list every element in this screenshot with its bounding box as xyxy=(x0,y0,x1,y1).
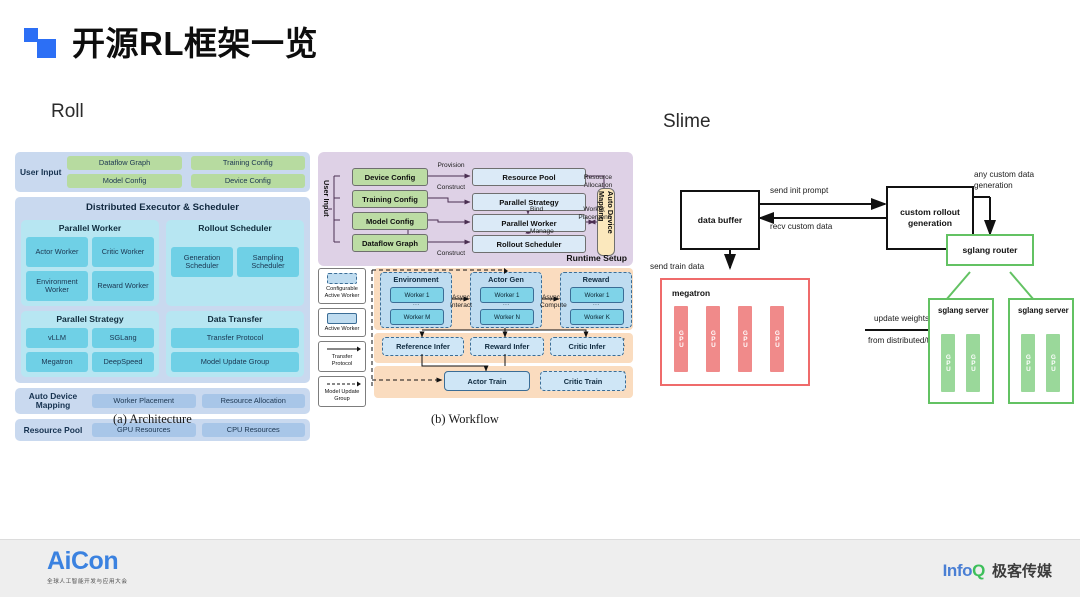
roll-architecture-panel: User Input Dataflow Graph Training Confi… xyxy=(15,152,310,403)
page-title: 开源RL框架一览 xyxy=(72,27,318,60)
gen-worker-last: Worker M xyxy=(390,309,444,325)
workflow-edge-provision: Provision xyxy=(428,162,474,170)
arch-chip-resource-allocation: Resource Allocation xyxy=(202,394,306,408)
aicon-ai-text: Ai xyxy=(47,547,71,575)
arch-item-sampling-scheduler: Sampling Scheduler xyxy=(237,247,299,277)
infoq-q-text: Q xyxy=(972,561,985,580)
arch-chip-dataflow-graph: Dataflow Graph xyxy=(67,156,181,170)
arch-item-sglang: SGLang xyxy=(92,328,154,348)
workflow-runtime-setup-label: Runtime Setup xyxy=(566,253,627,263)
arch-group-data-transfer: Data Transfer Transfer Protocol Model Up… xyxy=(166,311,304,377)
legend-label: Active Worker xyxy=(325,326,360,332)
arch-item-reward-worker: Reward Worker xyxy=(92,271,154,301)
slime-edge-update-weights: update weights xyxy=(874,314,929,325)
workflow-runtime-setup: User Input xyxy=(318,152,633,266)
workflow-node-training-config: Training Config xyxy=(352,190,428,208)
arch-chip-training-config: Training Config xyxy=(191,156,305,170)
arch-item-model-update-group: Model Update Group xyxy=(171,352,299,372)
workflow-label-worker-placement: Worker Placement xyxy=(576,206,612,221)
arch-item-deepspeed: DeepSpeed xyxy=(92,352,154,372)
arch-group-title: Parallel Strategy xyxy=(26,314,154,324)
workflow-node-rollout-scheduler: Rollout Scheduler xyxy=(472,235,586,253)
megatron-gpu-1: GPU xyxy=(706,306,720,372)
arch-user-input-label: User Input xyxy=(20,167,61,177)
sglang-server-1-gpu-0: GPU xyxy=(941,334,955,392)
gen-group-title: Environment xyxy=(381,273,451,284)
roll-workflow-panel: User Input xyxy=(318,152,633,407)
gen-worker-ellipsis: ··· xyxy=(390,301,442,308)
arch-item-transfer-protocol: Transfer Protocol xyxy=(171,328,299,348)
arch-band-user-input: User Input Dataflow Graph Training Confi… xyxy=(15,152,310,192)
megatron-gpu-0: GPU xyxy=(674,306,688,372)
legend-label: Configurable Active Worker xyxy=(325,286,360,299)
arch-chip-model-config: Model Config xyxy=(67,174,181,188)
slime-edge-send-init-prompt: send init prompt xyxy=(770,186,828,197)
arch-group-parallel-worker: Parallel Worker Actor Worker Critic Work… xyxy=(21,220,159,306)
train-box-critic-train: Critic Train xyxy=(540,371,626,391)
gpu-label: GPU xyxy=(710,330,716,348)
workflow-user-input-label: User Input xyxy=(322,180,331,217)
workflow-edge-construct-2: Construct xyxy=(428,250,474,258)
gen-worker-last: Worker K xyxy=(570,309,624,325)
arch-group-title: Rollout Scheduler xyxy=(171,223,299,233)
train-box-actor-train: Actor Train xyxy=(444,371,530,391)
gpu-label: GPU xyxy=(742,330,748,348)
gen-group-reward: Reward Worker 1 ··· Worker K xyxy=(560,272,632,328)
sglang-server-2-gpu-1: GPU xyxy=(1046,334,1060,392)
arch-item-megatron: Megatron xyxy=(26,352,88,372)
gen-worker-ellipsis: ··· xyxy=(570,301,622,308)
arch-chip-cpu-resources: CPU Resources xyxy=(202,423,306,437)
workflow-stages: Configurable Active Worker Active Worker… xyxy=(318,268,633,407)
infoq-logo: InfoQ 极客传媒 xyxy=(943,560,1052,581)
legend-transfer-protocol: Transfer Protocol xyxy=(318,341,366,372)
workflow-edge-manage: Manage xyxy=(530,228,562,236)
workflow-node-device-config: Device Config xyxy=(352,168,428,186)
arch-group-rollout-scheduler: Rollout Scheduler Generation Scheduler S… xyxy=(166,220,304,306)
arch-item-generation-scheduler: Generation Scheduler xyxy=(171,247,233,277)
slime-figure: data buffer custom rollout generation sg… xyxy=(650,150,1070,415)
section-heading-slime: Slime xyxy=(663,111,711,133)
workflow-label-resource-allocation: Resource Allocation xyxy=(580,174,616,189)
arch-band-executor: Distributed Executor & Scheduler Paralle… xyxy=(15,197,310,383)
slime-megatron-label: megatron xyxy=(672,288,710,298)
legend-dashed-arrow-icon xyxy=(325,381,359,387)
sglang-server-2-gpu-0: GPU xyxy=(1021,334,1035,392)
legend-active-worker: Active Worker xyxy=(318,308,366,337)
legend-swatch-dashed-icon xyxy=(327,273,357,284)
infer-box-reference-infer: Reference Infer xyxy=(382,337,464,356)
aicon-logo: AiCon 全球人工智能开发与应用大会 xyxy=(47,549,128,585)
arch-chip-worker-placement: Worker Placement xyxy=(92,394,196,408)
slime-edge-send-train-data: send train data xyxy=(650,262,704,273)
slime-node-sglang-router: sglang router xyxy=(946,234,1034,266)
arch-resource-pool-label: Resource Pool xyxy=(20,425,86,435)
infoq-info-text: Info xyxy=(943,561,973,580)
legend-swatch-solid-icon xyxy=(327,313,357,324)
gen-group-environment: Environment Worker 1 ··· Worker M xyxy=(380,272,452,328)
workflow-legend: Configurable Active Worker Active Worker… xyxy=(318,268,366,411)
infoq-chinese-text: 极客传媒 xyxy=(992,560,1052,581)
workflow-node-parallel-strategy: Parallel Strategy xyxy=(472,193,586,211)
infoq-wordmark: InfoQ xyxy=(943,561,985,581)
aicon-wordmark: AiCon xyxy=(47,549,128,574)
workflow-edge-bind: Bind xyxy=(530,206,556,214)
roll-figure: User Input Dataflow Graph Training Confi… xyxy=(15,152,633,407)
slime-edge-any-custom-data-generation: any custom data generation xyxy=(974,170,1058,191)
workflow-edge-construct-1: Construct xyxy=(428,184,474,192)
gpu-label: GPU xyxy=(678,330,684,348)
arch-chip-device-config: Device Config xyxy=(191,174,305,188)
gpu-label: GPU xyxy=(945,354,951,372)
sglang-server-1-gpu-1: GPU xyxy=(966,334,980,392)
gpu-label: GPU xyxy=(970,354,976,372)
arch-group-parallel-strategy: Parallel Strategy vLLM SGLang Megatron D… xyxy=(21,311,159,377)
figure-caption-workflow: (b) Workflow xyxy=(431,412,499,427)
figure-caption-architecture: (a) Architecture xyxy=(113,412,192,427)
gen-group-title: Reward xyxy=(561,273,631,284)
arch-executor-title: Distributed Executor & Scheduler xyxy=(21,201,304,215)
workflow-node-parallel-worker: Parallel Worker xyxy=(472,214,586,232)
arch-band-auto-device-mapping: Auto Device Mapping Worker Placement Res… xyxy=(15,388,310,414)
slime-node-data-buffer: data buffer xyxy=(680,190,760,250)
infer-box-reward-infer: Reward Infer xyxy=(470,337,544,356)
aicon-subtitle: 全球人工智能开发与应用大会 xyxy=(47,577,128,585)
gen-group-title: Actor Gen xyxy=(471,273,541,284)
workflow-node-dataflow-graph: Dataflow Graph xyxy=(352,234,428,252)
arch-item-critic-worker: Critic Worker xyxy=(92,237,154,267)
legend-label: Transfer Protocol xyxy=(332,354,353,367)
sglang-server-2-label: sglang server xyxy=(1018,306,1069,316)
legend-configurable-active-worker: Configurable Active Worker xyxy=(318,268,366,304)
arch-group-title: Parallel Worker xyxy=(26,223,154,233)
gen-worker-ellipsis: ··· xyxy=(480,301,532,308)
infer-box-critic-infer: Critic Infer xyxy=(550,337,624,356)
megatron-gpu-3: GPU xyxy=(770,306,784,372)
gen-worker-last: Worker N xyxy=(480,309,534,325)
gpu-label: GPU xyxy=(1025,354,1031,372)
legend-label: Model Update Group xyxy=(325,389,360,402)
slide-title-row: 开源RL框架一览 xyxy=(24,26,318,60)
sglang-server-1-label: sglang server xyxy=(938,306,989,316)
slime-edge-recv-custom-data: recv custom data xyxy=(770,222,832,233)
workflow-node-resource-pool: Resource Pool xyxy=(472,168,586,186)
megatron-gpu-2: GPU xyxy=(738,306,752,372)
arch-item-vllm: vLLM xyxy=(26,328,88,348)
legend-solid-arrow-icon xyxy=(325,346,359,352)
arch-item-actor-worker: Actor Worker xyxy=(26,237,88,267)
section-heading-roll: Roll xyxy=(51,101,84,123)
gen-group-actor-gen: Actor Gen Worker 1 ··· Worker N xyxy=(470,272,542,328)
gpu-label: GPU xyxy=(774,330,780,348)
aicon-con-text: Con xyxy=(71,547,118,575)
arch-item-environment-worker: Environment Worker xyxy=(26,271,88,301)
legend-model-update-group: Model Update Group xyxy=(318,376,366,407)
workflow-node-auto-device-mapping: Auto Device Mapping xyxy=(597,188,615,256)
arch-auto-device-mapping-label: Auto Device Mapping xyxy=(20,392,86,410)
workflow-node-model-config: Model Config xyxy=(352,212,428,230)
brand-squares-icon xyxy=(24,26,58,60)
gen-edge-async-compute: Async Compute xyxy=(540,294,562,309)
arch-group-title: Data Transfer xyxy=(171,314,299,324)
slide-footer: AiCon 全球人工智能开发与应用大会 InfoQ 极客传媒 xyxy=(0,539,1080,597)
gen-edge-async-interact: Async Interact xyxy=(450,294,472,309)
gpu-label: GPU xyxy=(1050,354,1056,372)
slide-root: 开源RL框架一览 Roll Slime User Input Dataflow … xyxy=(0,0,1080,597)
